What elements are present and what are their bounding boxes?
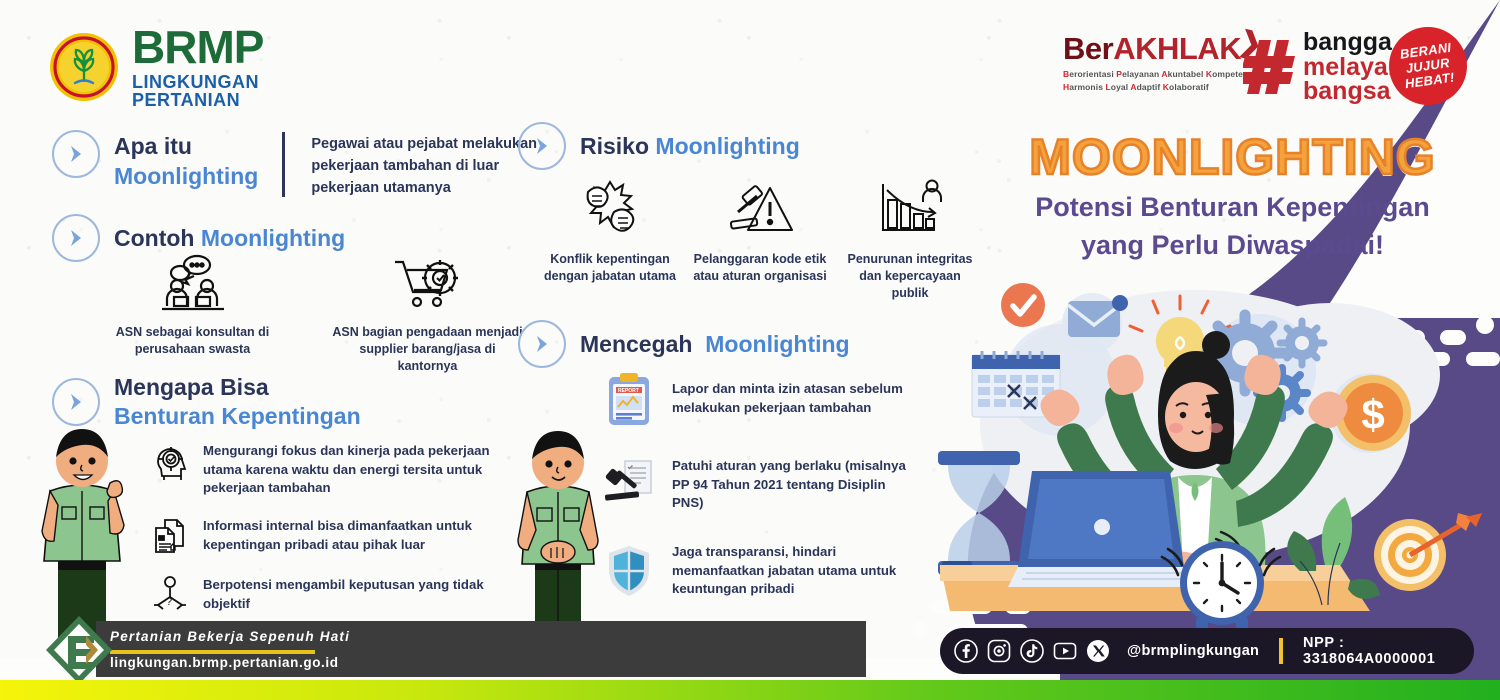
brmp-wordmark: BRMP LINGKUNGAN PERTANIAN (132, 24, 263, 109)
multitasking-woman-illustration: $ (930, 265, 1500, 635)
instagram-icon[interactable] (987, 639, 1011, 663)
mencegah-item: REPORT Lapor dan minta izin atasan sebel… (600, 370, 912, 428)
mencegah-item-text: Lapor dan minta izin atasan sebelum mela… (672, 380, 912, 417)
contoh-title-blue: Moonlighting (201, 225, 345, 251)
fists-clash-conflict-icon (540, 172, 680, 242)
svg-text:REPORT: REPORT (618, 388, 639, 394)
brmp-sub-line1: LINGKUNGAN (132, 73, 263, 91)
mencegah-title-plain: Mencegah (580, 331, 692, 357)
mencegah-item: Patuhi aturan yang berlaku (misalnya PP … (600, 456, 912, 514)
checkmark-circle-icon (1001, 283, 1045, 327)
tiktok-icon[interactable] (1020, 639, 1044, 663)
hero-title-block: MOONLIGHTING Potensi Benturan Kepentinga… (985, 128, 1480, 262)
facebook-icon[interactable] (954, 639, 978, 663)
footer-tagline: Pertanian Bekerja Sepenuh Hati (110, 629, 350, 644)
mengapa-title: Mengapa Bisa Benturan Kepentingan (114, 373, 361, 431)
mengapa-items: Mengurangi fokus dan kinerja pada pekerj… (150, 440, 508, 616)
contoh-title: Contoh Moonlighting (114, 224, 345, 253)
brmp-logo: BRMP LINGKUNGAN PERTANIAN (48, 24, 263, 109)
chevron-right-circle-icon (518, 122, 566, 170)
risiko-section-header: Risiko Moonlighting (518, 122, 800, 170)
hero-subtitle-line2: yang Perlu Diwaspadai! (985, 229, 1480, 262)
bottom-green-stripe (0, 680, 1500, 700)
report-clipboard-icon: REPORT (600, 370, 658, 428)
berakhlak-prefix: Ber (1063, 31, 1113, 66)
berakhlak-values-line2: Harmonis Loyal Adaptif Kolaboratif (1063, 81, 1248, 93)
declining-chart-person-icon (840, 172, 980, 242)
mencegah-items: REPORT Lapor dan minta izin atasan sebel… (600, 370, 912, 600)
definition-title-line1: Apa itu (114, 132, 258, 162)
asn-officer-standing-illustration (505, 428, 615, 653)
berakhlak-values-line1: Berorientasi Pelayanan Akuntabel Kompete… (1063, 68, 1248, 80)
definition-section: Apa itu Moonlighting Pegawai atau pejaba… (52, 130, 556, 199)
berani-text: BERANIJUJURHEBAT! (1399, 40, 1456, 92)
svg-text:?: ? (166, 596, 172, 608)
risiko-title-blue: Moonlighting (655, 133, 799, 159)
risiko-title-plain: Risiko (580, 133, 649, 159)
mengapa-title-line1: Mengapa Bisa (114, 373, 361, 402)
hero-title: MOONLIGHTING (985, 128, 1480, 186)
target-dart-icon (1374, 513, 1482, 591)
mengapa-section-header: Mengapa Bisa Benturan Kepentingan (52, 373, 361, 431)
hero-subtitle-line1: Potensi Benturan Kepentingan (985, 191, 1480, 224)
hashtag-icon (1243, 36, 1299, 98)
risiko-item-caption: Pelanggaran kode etik atau aturan organi… (690, 251, 830, 285)
envelope-icon (1068, 295, 1128, 337)
chevron-right-circle-icon (52, 130, 100, 178)
mencegah-section-header: Mencegah Moonlighting (518, 320, 850, 368)
risiko-item: Pelanggaran kode etik atau aturan organi… (690, 172, 830, 302)
mengapa-item-text: Berpotensi mengambil keputusan yang tida… (203, 574, 508, 613)
footer-rule (110, 650, 315, 654)
youtube-icon[interactable] (1053, 639, 1077, 663)
meeting-consultant-icon (95, 252, 290, 314)
divider (282, 132, 285, 197)
mengapa-item: Mengurangi fokus dan kinerja pada pekerj… (150, 440, 508, 498)
risiko-title: Risiko Moonlighting (580, 132, 800, 161)
mengapa-item-text: Mengurangi fokus dan kinerja pada pekerj… (203, 440, 508, 498)
footer-website[interactable]: lingkungan.brmp.pertanian.go.id (110, 655, 339, 670)
divider (1279, 638, 1283, 664)
risiko-items: Konflik kepentingan dengan jabatan utama… (540, 172, 980, 302)
brmp-sub-line2: PERTANIAN (132, 91, 263, 109)
head-target-focus-icon (150, 440, 190, 482)
documents-leak-icon (150, 515, 190, 557)
hourglass-icon (938, 451, 1020, 575)
berakhlak-suffix: AKHLAK (1113, 31, 1241, 66)
contoh-items: ASN sebagai konsultan di perusahaan swas… (95, 252, 525, 375)
contoh-title-plain: Contoh (114, 225, 194, 251)
infographic-canvas: BRMP LINGKUNGAN PERTANIAN BerAKHLAK ❯ Be… (0, 0, 1500, 700)
mengapa-item-text: Informasi internal bisa dimanfaatkan unt… (203, 515, 508, 554)
gavel-warning-icon (690, 172, 830, 242)
mencegah-item-text: Patuhi aturan yang berlaku (misalnya PP … (672, 457, 912, 513)
berani-jujur-hebat-logo: BERANIJUJURHEBAT! (1389, 27, 1467, 105)
chevron-right-circle-icon (52, 214, 100, 262)
definition-title: Apa itu Moonlighting (114, 130, 258, 192)
berakhlak-logo: BerAKHLAK ❯ Berorientasi Pelayanan Akunt… (1063, 33, 1248, 94)
decision-question-icon: ? (150, 574, 190, 616)
definition-title-line2: Moonlighting (114, 162, 258, 192)
contoh-item: ASN bagian pengadaan menjadi supplier ba… (330, 252, 525, 375)
chevron-right-circle-icon (518, 320, 566, 368)
contoh-item: ASN sebagai konsultan di perusahaan swas… (95, 252, 290, 375)
contoh-item-caption: ASN bagian pengadaan menjadi supplier ba… (330, 324, 525, 375)
bangga-melayani-bangsa-logo: bangga melayani bangsa (1243, 30, 1410, 104)
mengapa-title-line2: Benturan Kepentingan (114, 402, 361, 431)
footer-right-pill: @brmplingkungan NPP : 3318064A0000001 (940, 628, 1474, 674)
npp-number: NPP : 3318064A0000001 (1303, 635, 1474, 667)
brmp-name: BRMP (132, 24, 263, 70)
procurement-cart-gear-icon (330, 252, 525, 314)
mencegah-item-text: Jaga transparansi, hindari memanfaatkan … (672, 543, 912, 599)
mencegah-title-blue: Moonlighting (705, 331, 849, 357)
mencegah-title: Mencegah Moonlighting (580, 330, 850, 359)
x-twitter-icon[interactable] (1086, 639, 1110, 663)
contoh-item-caption: ASN sebagai konsultan di perusahaan swas… (95, 324, 290, 358)
mengapa-item: ? Berpotensi mengambil keputusan yang ti… (150, 574, 508, 616)
rice-plant-seal-icon (48, 31, 120, 103)
chevron-right-circle-icon (52, 378, 100, 426)
risiko-item-caption: Konflik kepentingan dengan jabatan utama (540, 251, 680, 285)
mencegah-item: Jaga transparansi, hindari memanfaatkan … (600, 542, 912, 600)
svg-text:$: $ (1361, 391, 1384, 438)
social-handle: @brmplingkungan (1127, 643, 1259, 659)
risiko-item: Konflik kepentingan dengan jabatan utama (540, 172, 680, 302)
mengapa-item: Informasi internal bisa dimanfaatkan unt… (150, 515, 508, 557)
berakhlak-title: BerAKHLAK (1063, 33, 1248, 64)
